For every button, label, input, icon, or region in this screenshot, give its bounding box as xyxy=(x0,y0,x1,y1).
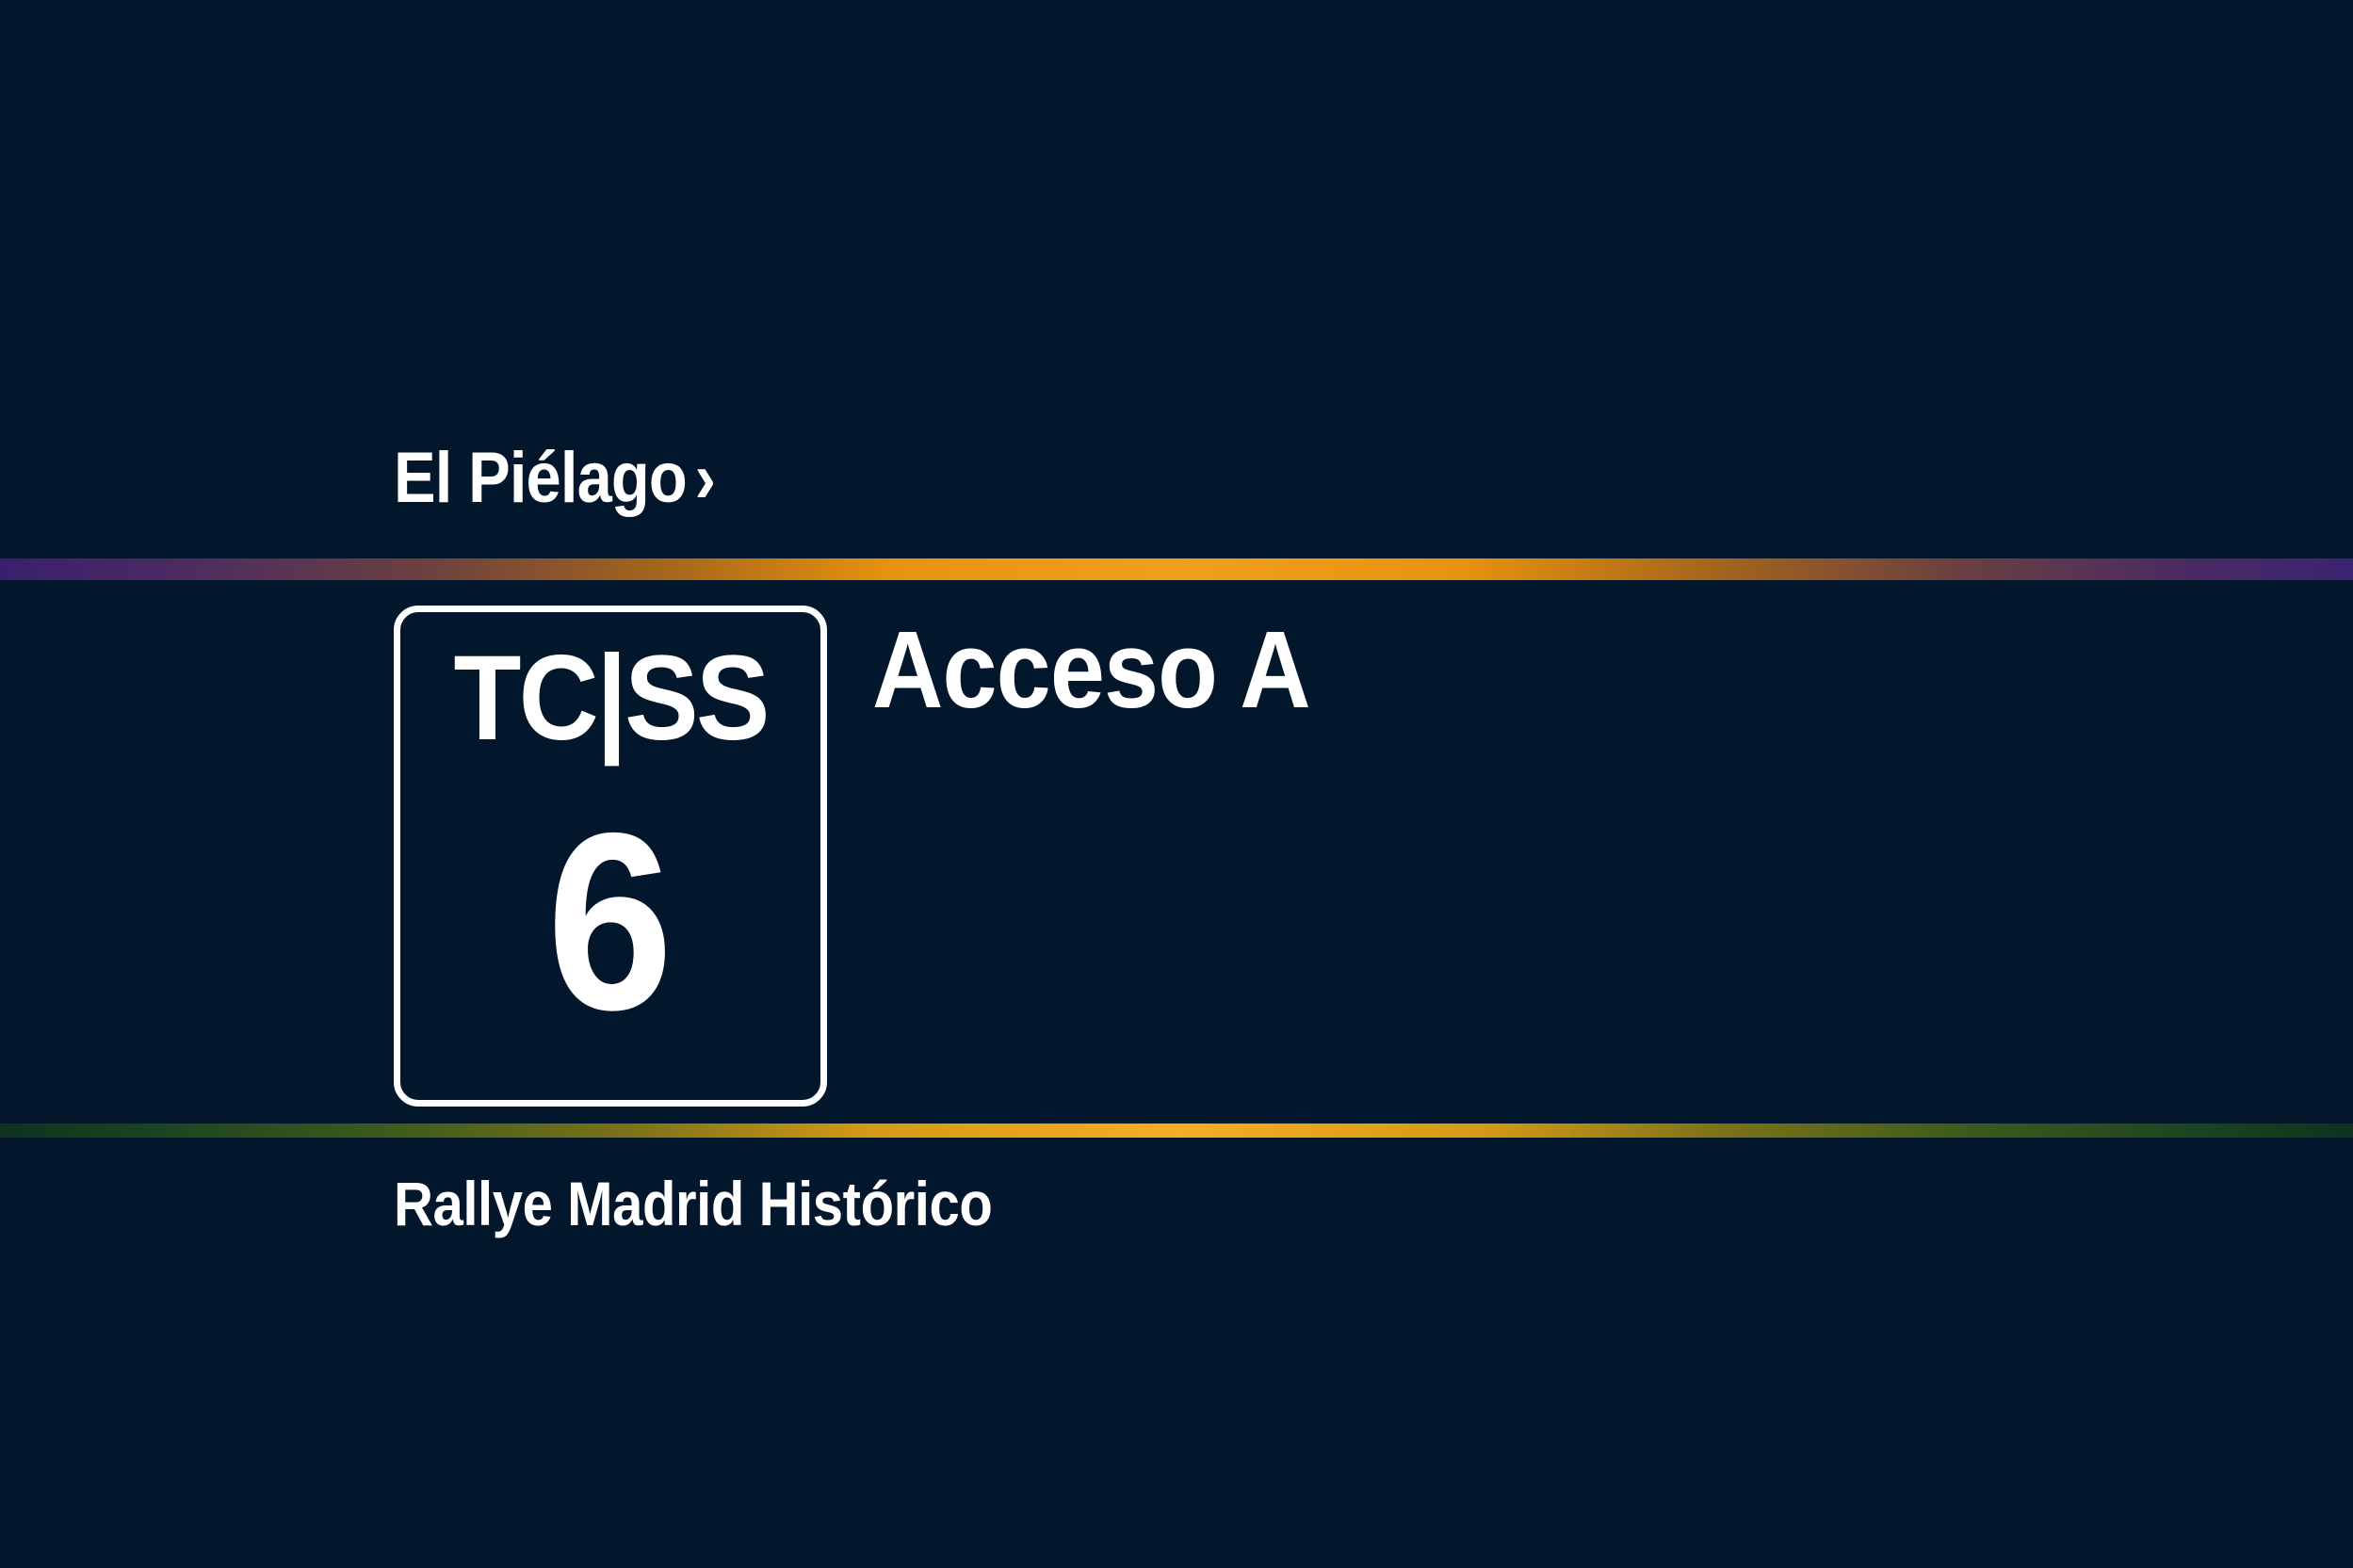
breadcrumb-label: El Piélago xyxy=(394,438,687,518)
breadcrumb[interactable]: El Piélago› xyxy=(394,443,715,514)
main-row: TC|SS 6 Acceso A xyxy=(394,606,1358,1107)
event-caption: Rallye Madrid Histórico xyxy=(394,1172,992,1235)
stage-badge: TC|SS 6 xyxy=(394,606,827,1107)
badge-code-label: TC|SS xyxy=(453,639,767,759)
chevron-right-icon: › xyxy=(695,438,715,518)
page-title: Acceso A xyxy=(872,615,1310,724)
badge-number-label: 6 xyxy=(547,795,673,1047)
divider-bottom xyxy=(0,1123,2353,1138)
stage-title-card: El Piélago› TC|SS 6 Acceso A Rallye Madr… xyxy=(0,0,2353,1568)
divider-top xyxy=(0,558,2353,580)
